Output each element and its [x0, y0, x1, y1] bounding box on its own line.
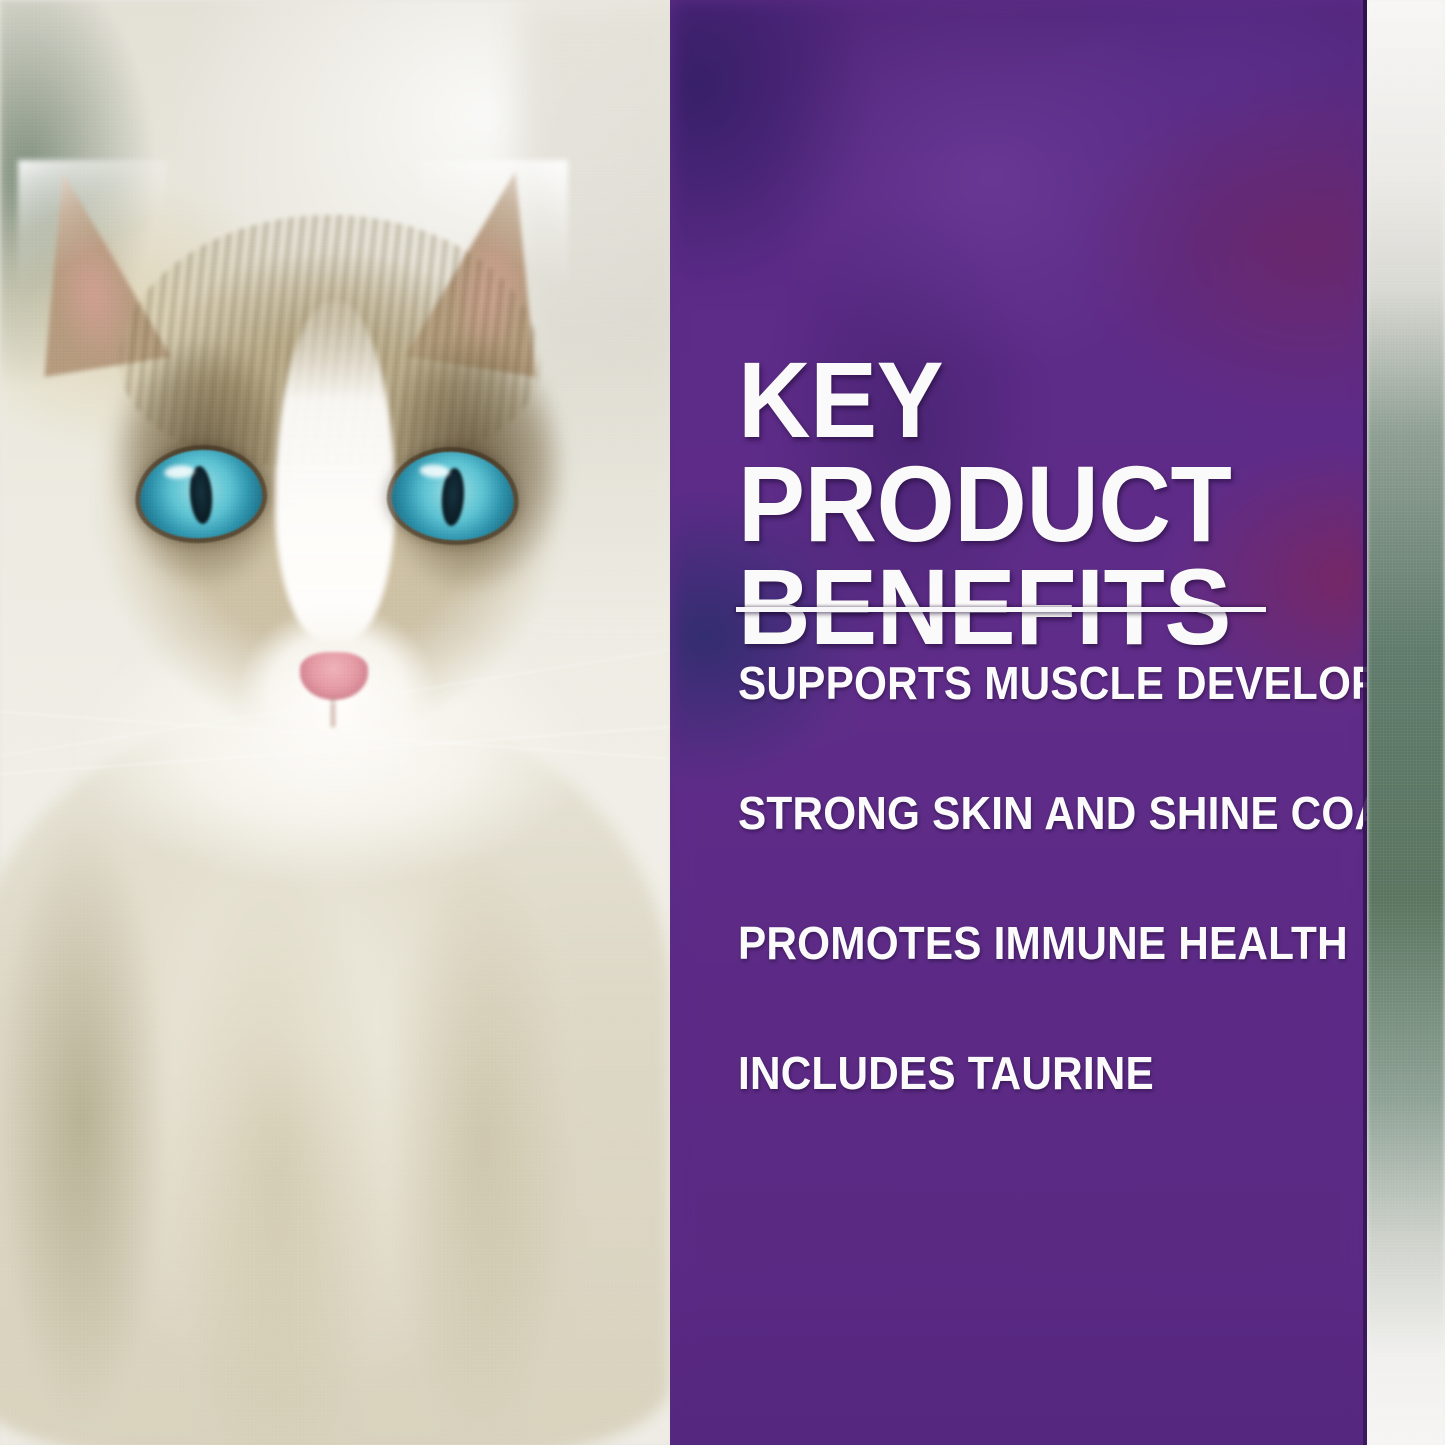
panel-content: KEY PRODUCT BENEFITS SUPPORTS MUSCLE DEV… — [738, 0, 1367, 1445]
benefit-item-2: STRONG SKIN AND SHINE COAT — [738, 790, 1290, 920]
benefit-item-4: INCLUDES TAURINE — [738, 1050, 1290, 1180]
benefit-item-1: SUPPORTS MUSCLE DEVELOPMENT — [738, 660, 1290, 790]
cat-photo — [0, 0, 670, 1445]
benefits-list: SUPPORTS MUSCLE DEVELOPMENT STRONG SKIN … — [738, 660, 1338, 1180]
benefit-item-3: PROMOTES IMMUNE HEALTH — [738, 920, 1290, 1050]
photo-grain-overlay — [0, 0, 670, 1445]
panel-right-edge — [1363, 0, 1367, 1445]
benefits-panel: KEY PRODUCT BENEFITS SUPPORTS MUSCLE DEV… — [670, 0, 1367, 1445]
product-benefits-banner: KEY PRODUCT BENEFITS SUPPORTS MUSCLE DEV… — [0, 0, 1445, 1445]
page-title: KEY PRODUCT BENEFITS — [738, 348, 1259, 659]
right-background-grain — [1367, 0, 1445, 1445]
title-divider-rule — [736, 607, 1266, 612]
